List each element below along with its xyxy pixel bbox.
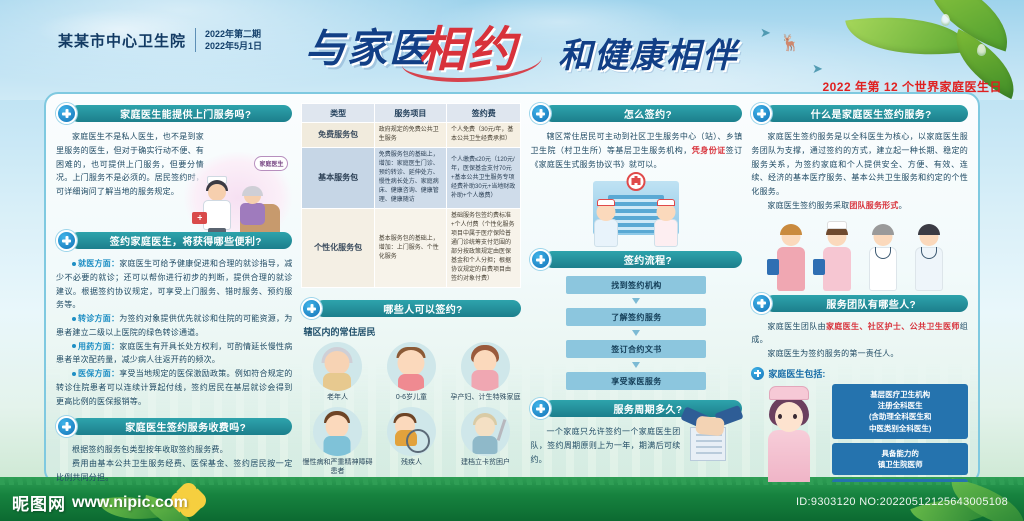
what-is-text-pre: 家庭医生签约服务采取 <box>767 201 849 210</box>
chronic-patient-icon <box>313 407 362 456</box>
team-role-box: 具备能力的镇卫生院医师 <box>832 443 968 476</box>
list-item: 老年人 <box>301 342 373 403</box>
bullet-dot-icon <box>72 344 76 348</box>
issue-date: 2022年5月1日 <box>205 40 262 52</box>
content-board: 家庭医生能提供上门服务吗? 家庭医生不是私人医生，也不是到家里服务的医生，但对于… <box>44 92 980 484</box>
includes-label-text: 家庭医生包括: <box>768 367 825 380</box>
header-left: 某某市中心卫生院 2022年第二期 2022年5月1日 <box>58 28 262 52</box>
section-fees-heading: 家庭医生签约服务收费吗? <box>56 416 292 437</box>
section-how-to-sign-heading: 怎么签约? <box>530 103 742 124</box>
issue-info: 2022年第二期 2022年5月1日 <box>195 28 262 52</box>
package-type: 个性化服务包 <box>302 209 374 288</box>
doctor-team-illustration <box>751 213 968 291</box>
section-heading-label: 家庭医生能提供上门服务吗? <box>70 105 292 122</box>
team-highlight: 家庭医生、社区护士、公共卫生医师 <box>826 322 960 331</box>
benefit-key: 转诊方面： <box>78 314 119 323</box>
bullet-dot-icon <box>72 372 76 376</box>
arrow-down-icon <box>632 362 640 368</box>
table-row: 免费服务包 政府规定的免费公共卫生服务 个人免费（30元/年，基本公共卫生经费承… <box>302 123 521 148</box>
list-item: 0-6岁儿童 <box>375 342 447 403</box>
poor-household-icon <box>461 407 510 456</box>
table-col-header-items: 服务项目 <box>374 104 446 123</box>
eligible-subtitle: 辖区内的常住居民 <box>303 325 521 338</box>
child-icon <box>387 342 436 391</box>
benefits-list: 就医方面：家庭医生可给予健康促进和合理的就诊指导，减少不必要的就诊；还可以帮你进… <box>56 257 292 408</box>
poster-title-sub: 和健康相伴 <box>558 28 738 77</box>
person-label: 老年人 <box>301 394 373 403</box>
section-heading-label: 签约家庭医生，将获得哪些便利? <box>70 232 292 249</box>
package-fee: 基础服务包签约费标准+个人付费（个性化服务项目中属于医疗保险普通门诊统筹支付范围… <box>447 209 521 288</box>
table-row: 基本服务包 免费服务包的基础上，增加：家庭医生门诊、预约转诊、延伸处方、慢性病长… <box>302 148 521 209</box>
benefit-key: 就医方面： <box>78 259 119 268</box>
section-sign-flow-heading: 签约流程? <box>530 249 742 270</box>
nurse-icon <box>648 199 684 247</box>
column-3: 怎么签约? 辖区常住居民可主动到社区卫生服务中心（站）、乡镇卫生院（村卫生所）等… <box>530 103 742 473</box>
fees-paragraph-2: 费用由基本公共卫生服务经费、医保基金、签约居民按一定比例共同分担。 <box>56 457 292 484</box>
doctor-figure-icon <box>200 176 236 238</box>
list-item: 慢性病和严重精神障碍患者 <box>301 407 373 477</box>
nurse-figure-icon <box>815 219 859 291</box>
section-heading-label: 服务团队有哪些人? <box>765 295 968 312</box>
sign-flow-chart: 找到签约机构 了解签约服务 签订合约文书 享受家医服务 <box>530 276 742 390</box>
section-heading-label: 怎么签约? <box>544 105 742 122</box>
site-logo: 昵图网 <box>12 490 66 515</box>
bullet-dot-icon <box>72 317 76 321</box>
home-visit-paragraph: 家庭医生不是私人医生，也不是到家里服务的医生，但对于确实行动不便、有困难的，也可… <box>56 130 204 199</box>
arrow-down-icon <box>632 298 640 304</box>
team-text-pre: 家庭医生团队由 <box>767 322 826 331</box>
package-type: 基本服务包 <box>302 148 374 209</box>
hospital-illustration <box>530 175 742 247</box>
benefit-item: 就医方面：家庭医生可给予健康促进和合理的就诊指导，减少不必要的就诊；还可以帮你进… <box>56 257 292 312</box>
family-doctor-includes-label: 家庭医生包括: <box>751 367 968 380</box>
dewdrop-icon <box>941 14 950 26</box>
what-is-paragraph-2: 家庭医生签约服务采取团队服务形式。 <box>751 199 968 213</box>
team-composition: 基层医疗卫生机构注册全科医生(含助理全科医生和中医类别全科医生) 具备能力的镇卫… <box>751 384 968 484</box>
plus-icon <box>56 230 77 251</box>
image-id-watermark: ID:9303120 NO:20220512125643005108 <box>796 496 1008 508</box>
package-items: 政府规定的免费公共卫生服务 <box>374 123 446 148</box>
what-is-text-post: 。 <box>899 201 907 210</box>
handshake-icon <box>684 407 740 461</box>
wheelchair-icon <box>387 407 436 456</box>
flow-step: 签订合约文书 <box>566 340 706 358</box>
list-item: 残疾人 <box>375 407 447 477</box>
speech-bubble: 家庭医生 <box>254 156 288 171</box>
footer: 昵图网 www.nipic.com ID:9303120 NO:20220512… <box>0 477 1024 521</box>
nurse-icon <box>588 199 624 247</box>
table-col-header-fee: 签约费 <box>447 104 521 123</box>
poster-title-accent: 相约 <box>418 10 518 80</box>
package-fee: 个人缴费≤20元（120元/年，医保基金支付70元+基本公共卫生服务专项经费补助… <box>447 148 521 209</box>
section-what-is-heading: 什么是家庭医生签约服务? <box>751 103 968 124</box>
section-heading-label: 什么是家庭医生签约服务? <box>765 105 968 122</box>
fees-paragraph-1: 根据签约服务包类型按年收取签约服务费。 <box>56 443 292 457</box>
bird-icon: 🦌 <box>780 36 800 52</box>
service-package-table: 类型 服务项目 签约费 免费服务包 政府规定的免费公共卫生服务 个人免费（30元… <box>301 103 521 288</box>
person-label: 0-6岁儿童 <box>375 394 447 403</box>
list-item: 孕产妇、计生特殊家庭 <box>449 342 521 403</box>
package-items: 免费服务包的基础上，增加：家庭医生门诊、预约转诊、延伸处方、慢性病长处方、家庭病… <box>374 148 446 209</box>
how-to-sign-highlight: 凭身份证 <box>692 146 726 155</box>
nurse-figure-icon <box>769 219 813 291</box>
benefit-item: 用药方面：家庭医生有开具长处方权利，可酌情延长慢性病患者单次配药量，减少病人往返… <box>56 340 292 368</box>
benefit-key: 医保方面： <box>78 369 119 378</box>
elderly-icon <box>313 342 362 391</box>
section-eligible-heading: 哪些人可以签约? <box>301 298 521 319</box>
team-role-box: 基层医疗卫生机构注册全科医生(含助理全科医生和中医类别全科医生) <box>832 384 968 439</box>
flow-step: 了解签约服务 <box>566 308 706 326</box>
team-role-boxes: 基层医疗卫生机构注册全科医生(含助理全科医生和中医类别全科医生) 具备能力的镇卫… <box>832 384 968 484</box>
bird-icon: ➤ <box>812 62 823 75</box>
table-col-header-type: 类型 <box>302 104 374 123</box>
team-paragraph-1: 家庭医生团队由家庭医生、社区护士、公共卫生医师组成。 <box>751 320 968 348</box>
what-is-paragraph-1: 家庭医生签约服务是以全科医生为核心，以家庭医生服务团队为支撑，通过签约的方式，建… <box>751 130 968 199</box>
person-label: 残疾人 <box>375 459 447 468</box>
benefit-item: 医保方面：享受当地规定的医保激励政策。例如符合规定的转诊住院患者可以连续计算起付… <box>56 367 292 408</box>
list-item: 建档立卡贫困户 <box>449 407 521 477</box>
plus-icon <box>751 293 772 314</box>
senior-doctor-icon <box>861 219 905 291</box>
what-is-highlight: 团队服务形式 <box>849 201 898 210</box>
section-heading-label: 哪些人可以签约? <box>315 300 521 317</box>
package-items: 基本服务包的基础上，增加：上门服务、个性化服务 <box>374 209 446 288</box>
how-to-sign-paragraph: 辖区常住居民可主动到社区卫生服务中心（站）、乡镇卫生院（村卫生所）等基层卫生服务… <box>530 130 742 171</box>
plus-icon <box>751 367 764 380</box>
bird-icon: ➤ <box>760 26 771 39</box>
column-1: 家庭医生能提供上门服务吗? 家庭医生不是私人医生，也不是到家里服务的医生，但对于… <box>56 103 292 473</box>
plus-icon <box>56 103 77 124</box>
pregnant-icon <box>461 342 510 391</box>
benefit-item: 转诊方面：为签约对象提供优先就诊和住院的可能资源，为患者建立二级以上医院的绿色转… <box>56 312 292 340</box>
organization-name: 某某市中心卫生院 <box>58 30 186 51</box>
poster-root: 🦌 ➤ ➤ 某某市中心卫生院 2022年第二期 2022年5月1日 与家医 相约… <box>0 0 1024 521</box>
column-2: 类型 服务项目 签约费 免费服务包 政府规定的免费公共卫生服务 个人免费（30元… <box>301 103 521 473</box>
section-heading-label: 签约流程? <box>544 251 742 268</box>
arrow-down-icon <box>632 330 640 336</box>
issue-number: 2022年第二期 <box>205 28 262 40</box>
section-benefits-heading: 签约家庭医生，将获得哪些便利? <box>56 230 292 251</box>
package-fee: 个人免费（30元/年，基本公共卫生经费承担） <box>447 123 521 148</box>
package-type: 免费服务包 <box>302 123 374 148</box>
flow-step: 找到签约机构 <box>566 276 706 294</box>
dewdrop-icon <box>977 44 986 56</box>
flow-step: 享受家医服务 <box>566 372 706 390</box>
benefit-key: 用药方面： <box>78 342 119 351</box>
footer-brand: 昵图网 www.nipic.com <box>12 490 188 515</box>
section-home-visit-body: 家庭医生不是私人医生，也不是到家里服务的医生，但对于确实行动不便、有困难的，也可… <box>56 130 292 226</box>
female-nurse-illustration <box>751 384 827 484</box>
section-home-visit-heading: 家庭医生能提供上门服务吗? <box>56 103 292 124</box>
doctor-figure-icon <box>907 219 951 291</box>
team-paragraph-2: 家庭医生为签约服务的第一责任人。 <box>751 347 968 361</box>
table-header-row: 类型 服务项目 签约费 <box>302 104 521 123</box>
table-row: 个性化服务包 基本服务包的基础上，增加：上门服务、个性化服务 基础服务包签约费标… <box>302 209 521 288</box>
person-label: 建档立卡贫困户 <box>449 459 521 468</box>
section-service-period-body: 一个家庭只允许签约一个家庭医生团队，签约周期原则上为一年，期满后可续约。 <box>530 425 742 466</box>
person-label: 孕产妇、计生特殊家庭 <box>449 394 521 403</box>
bullet-dot-icon <box>72 262 76 266</box>
eligible-people-grid: 老年人 0-6岁儿童 孕产妇、计生特殊家庭 慢性病和严重精神障碍患者 <box>301 342 521 476</box>
site-url[interactable]: www.nipic.com <box>72 494 188 512</box>
service-period-paragraph: 一个家庭只允许签约一个家庭医生团队，签约周期原则上为一年，期满后可续约。 <box>530 425 680 466</box>
person-label: 慢性病和严重精神障碍患者 <box>301 459 373 477</box>
section-heading-label: 家庭医生签约服务收费吗? <box>70 418 292 435</box>
section-team-heading: 服务团队有哪些人? <box>751 293 968 314</box>
column-4: 什么是家庭医生签约服务? 家庭医生签约服务是以全科医生为核心，以家庭医生服务团队… <box>751 103 968 473</box>
